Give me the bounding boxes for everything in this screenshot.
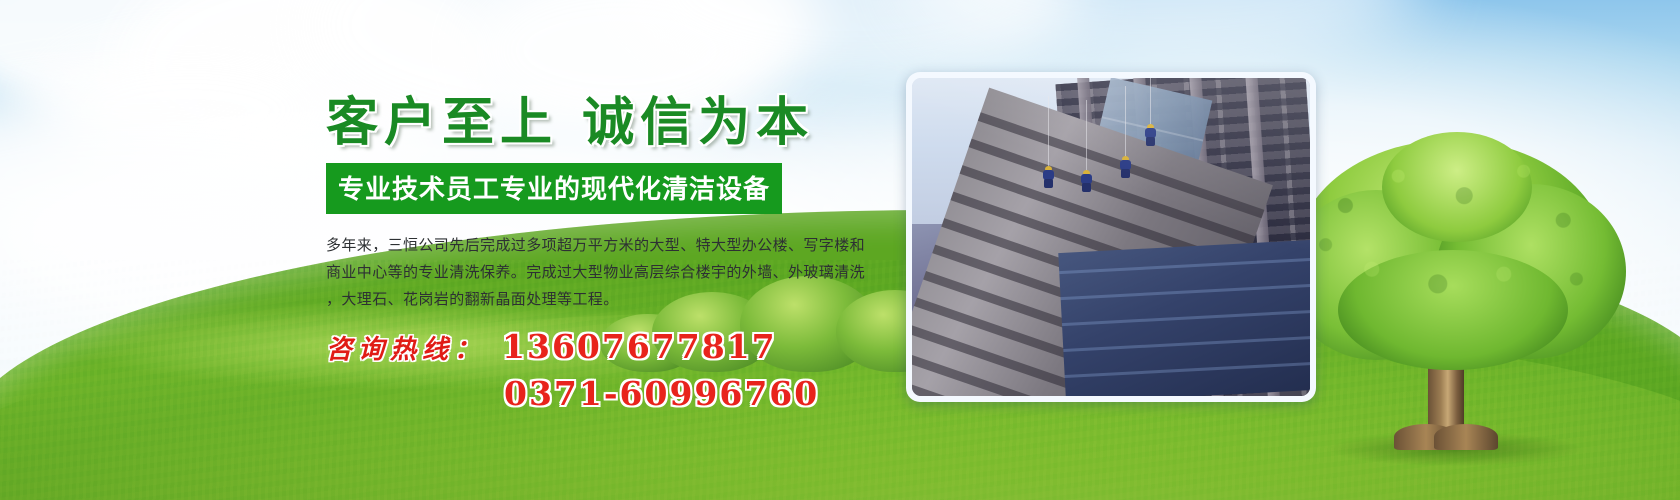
tree-illustration [1286, 132, 1616, 462]
photo-gloss [912, 78, 1310, 396]
promo-banner: 客户至上 诚信为本 专业技术员工专业的现代化清洁设备 多年来，三恒公司先后完成过… [0, 0, 1680, 500]
description-line: 多年来，三恒公司先后完成过多项超万平方米的大型、特大型办公楼、写字楼和 [326, 232, 886, 259]
banner-text-block: 客户至上 诚信为本 专业技术员工专业的现代化清洁设备 多年来，三恒公司先后完成过… [318, 96, 908, 413]
hotline-landline-number[interactable]: 0371-60996760 [504, 374, 908, 413]
building-photo [912, 78, 1310, 396]
hotline-label: 咨询热线： [326, 335, 486, 365]
description: 多年来，三恒公司先后完成过多项超万平方米的大型、特大型办公楼、写字楼和 商业中心… [326, 232, 886, 313]
tree-root [1434, 424, 1498, 450]
tree-leaf-texture [1286, 132, 1616, 377]
subtitle-bar: 专业技术员工专业的现代化清洁设备 [326, 163, 782, 214]
building-photo-frame [906, 72, 1316, 402]
description-line: 商业中心等的专业清洗保养。完成过大型物业高层综合楼宇的外墙、外玻璃清洗 [326, 259, 886, 286]
hotline-block: 咨询热线：13607677817 0371-60996760 [326, 327, 908, 413]
description-line: ，大理石、花岗岩的翻新晶面处理等工程。 [326, 286, 886, 313]
headline: 客户至上 诚信为本 [326, 96, 908, 151]
hotline-mobile-number[interactable]: 13607677817 [502, 327, 777, 366]
